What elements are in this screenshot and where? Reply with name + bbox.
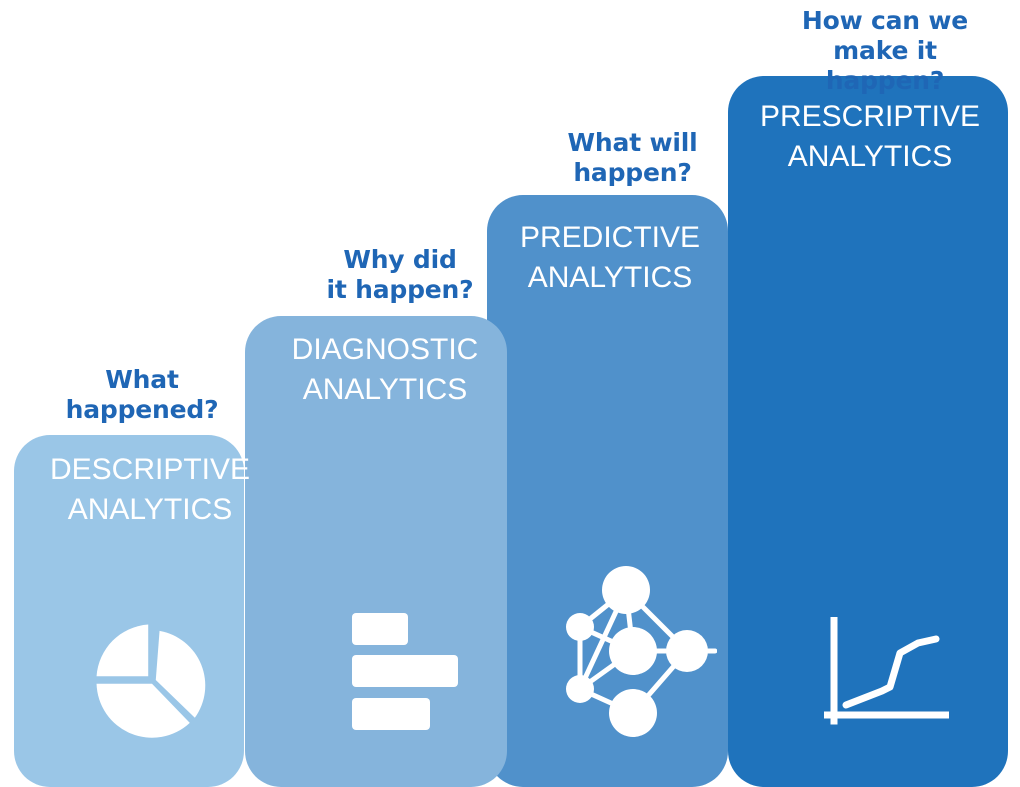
stage-column-diagnostic[interactable] xyxy=(245,316,507,787)
stage-question-diagnostic: Why did it happen? xyxy=(300,245,500,305)
stage-column-prescriptive[interactable] xyxy=(728,76,1008,787)
stage-question-predictive: What will happen? xyxy=(540,128,725,188)
analytics-maturity-diagram: DESCRIPTIVE ANALYTICS DIAGNOSTIC ANALYTI… xyxy=(0,0,1020,787)
stage-column-predictive[interactable] xyxy=(487,195,728,787)
stage-column-descriptive[interactable] xyxy=(14,435,244,787)
stage-question-descriptive: What happened? xyxy=(52,365,232,425)
